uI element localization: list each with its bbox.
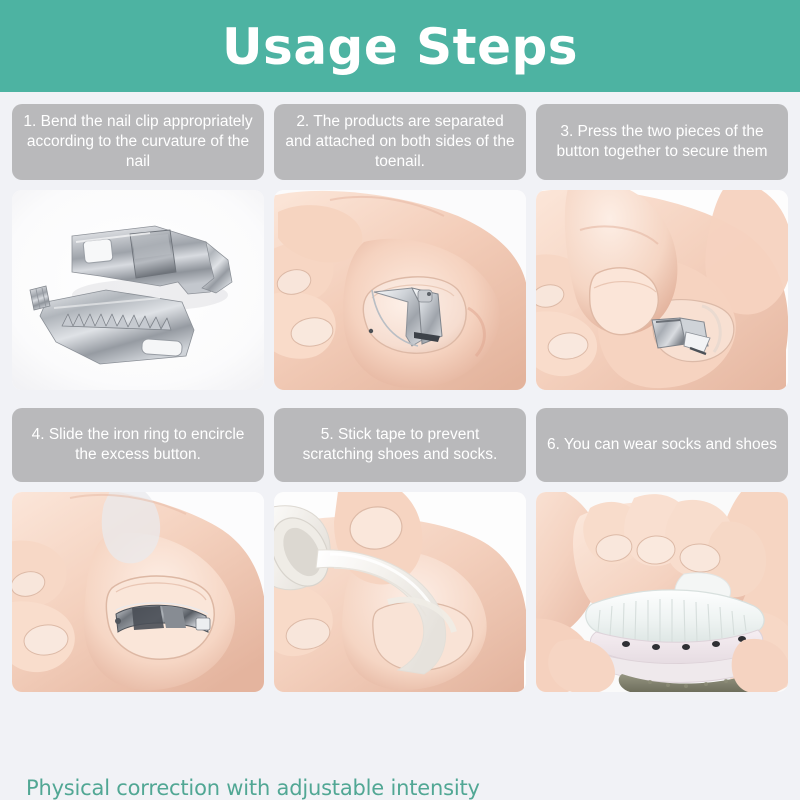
photo-nail-clip-product-image <box>12 190 264 390</box>
photo-slide-iron-ring <box>12 492 264 692</box>
step-caption-3: 3. Press the two pieces of the button to… <box>536 104 788 180</box>
photo-clip-attached-toenail <box>274 190 526 390</box>
photo-row-2 <box>12 492 788 692</box>
step-caption-5: 5. Stick tape to prevent scratching shoe… <box>274 408 526 482</box>
photo-wear-socks-shoes <box>536 492 788 692</box>
photo-press-button-together-image <box>536 190 788 390</box>
page-title: Usage Steps <box>222 22 578 72</box>
photo-nail-clip-product <box>12 190 264 390</box>
step-caption-2: 2. The products are separated and attach… <box>274 104 526 180</box>
step-caption-text-5: 5. Stick tape to prevent scratching shoe… <box>284 425 516 465</box>
step-caption-text-4: 4. Slide the iron ring to encircle the e… <box>22 425 254 465</box>
step-caption-text-6: 6. You can wear socks and shoes <box>547 435 777 455</box>
photo-press-button-together <box>536 190 788 390</box>
caption-row-2: 4. Slide the iron ring to encircle the e… <box>12 408 788 482</box>
footer-tagline-area: Physical correction with adjustable inte… <box>0 774 800 800</box>
step-caption-text-2: 2. The products are separated and attach… <box>284 112 516 172</box>
step-caption-4: 4. Slide the iron ring to encircle the e… <box>12 408 264 482</box>
caption-row-1: 1. Bend the nail clip appropriately acco… <box>12 104 788 180</box>
photo-slide-iron-ring-image <box>12 492 264 692</box>
photo-stick-tape-image <box>274 492 526 692</box>
photo-stick-tape <box>274 492 526 692</box>
photo-row-1 <box>12 190 788 390</box>
step-caption-text-3: 3. Press the two pieces of the button to… <box>546 122 778 162</box>
step-caption-text-1: 1. Bend the nail clip appropriately acco… <box>22 112 254 172</box>
step-caption-6: 6. You can wear socks and shoes <box>536 408 788 482</box>
photo-wear-socks-shoes-image <box>536 492 788 692</box>
steps-grid: 1. Bend the nail clip appropriately acco… <box>0 92 800 774</box>
step-caption-1: 1. Bend the nail clip appropriately acco… <box>12 104 264 180</box>
tagline-text: Physical correction with adjustable inte… <box>26 776 480 800</box>
photo-clip-attached-toenail-image <box>274 190 526 390</box>
header-banner: Usage Steps <box>0 0 800 92</box>
infographic-page: Usage Steps 1. Bend the nail clip approp… <box>0 0 800 800</box>
